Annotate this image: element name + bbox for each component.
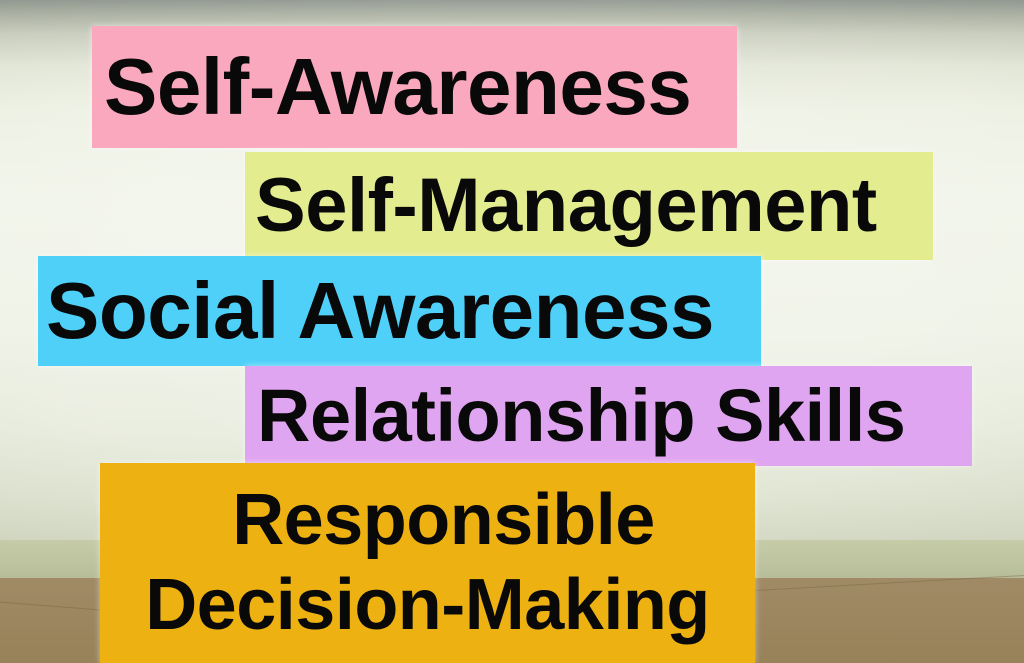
competency-label-social-awareness: Social Awareness	[46, 270, 714, 352]
competency-band-social-awareness: Social Awareness	[38, 256, 761, 366]
slide-canvas: Self-Awareness Self-Management Social Aw…	[0, 0, 1024, 663]
competency-label-self-management: Self-Management	[255, 167, 877, 245]
competency-band-self-awareness: Self-Awareness	[92, 26, 737, 148]
competency-label-self-awareness: Self-Awareness	[104, 46, 691, 128]
competency-band-self-management: Self-Management	[245, 152, 933, 260]
competency-band-responsible-decision-making: Responsible Decision-Making	[100, 463, 755, 663]
competency-label-responsible-decision-making-line-1: Responsible	[118, 478, 753, 563]
competency-band-relationship-skills: Relationship Skills	[245, 366, 972, 466]
competency-label-relationship-skills: Relationship Skills	[257, 378, 905, 453]
competency-label-responsible-decision-making-line-2: Decision-Making	[118, 563, 737, 648]
